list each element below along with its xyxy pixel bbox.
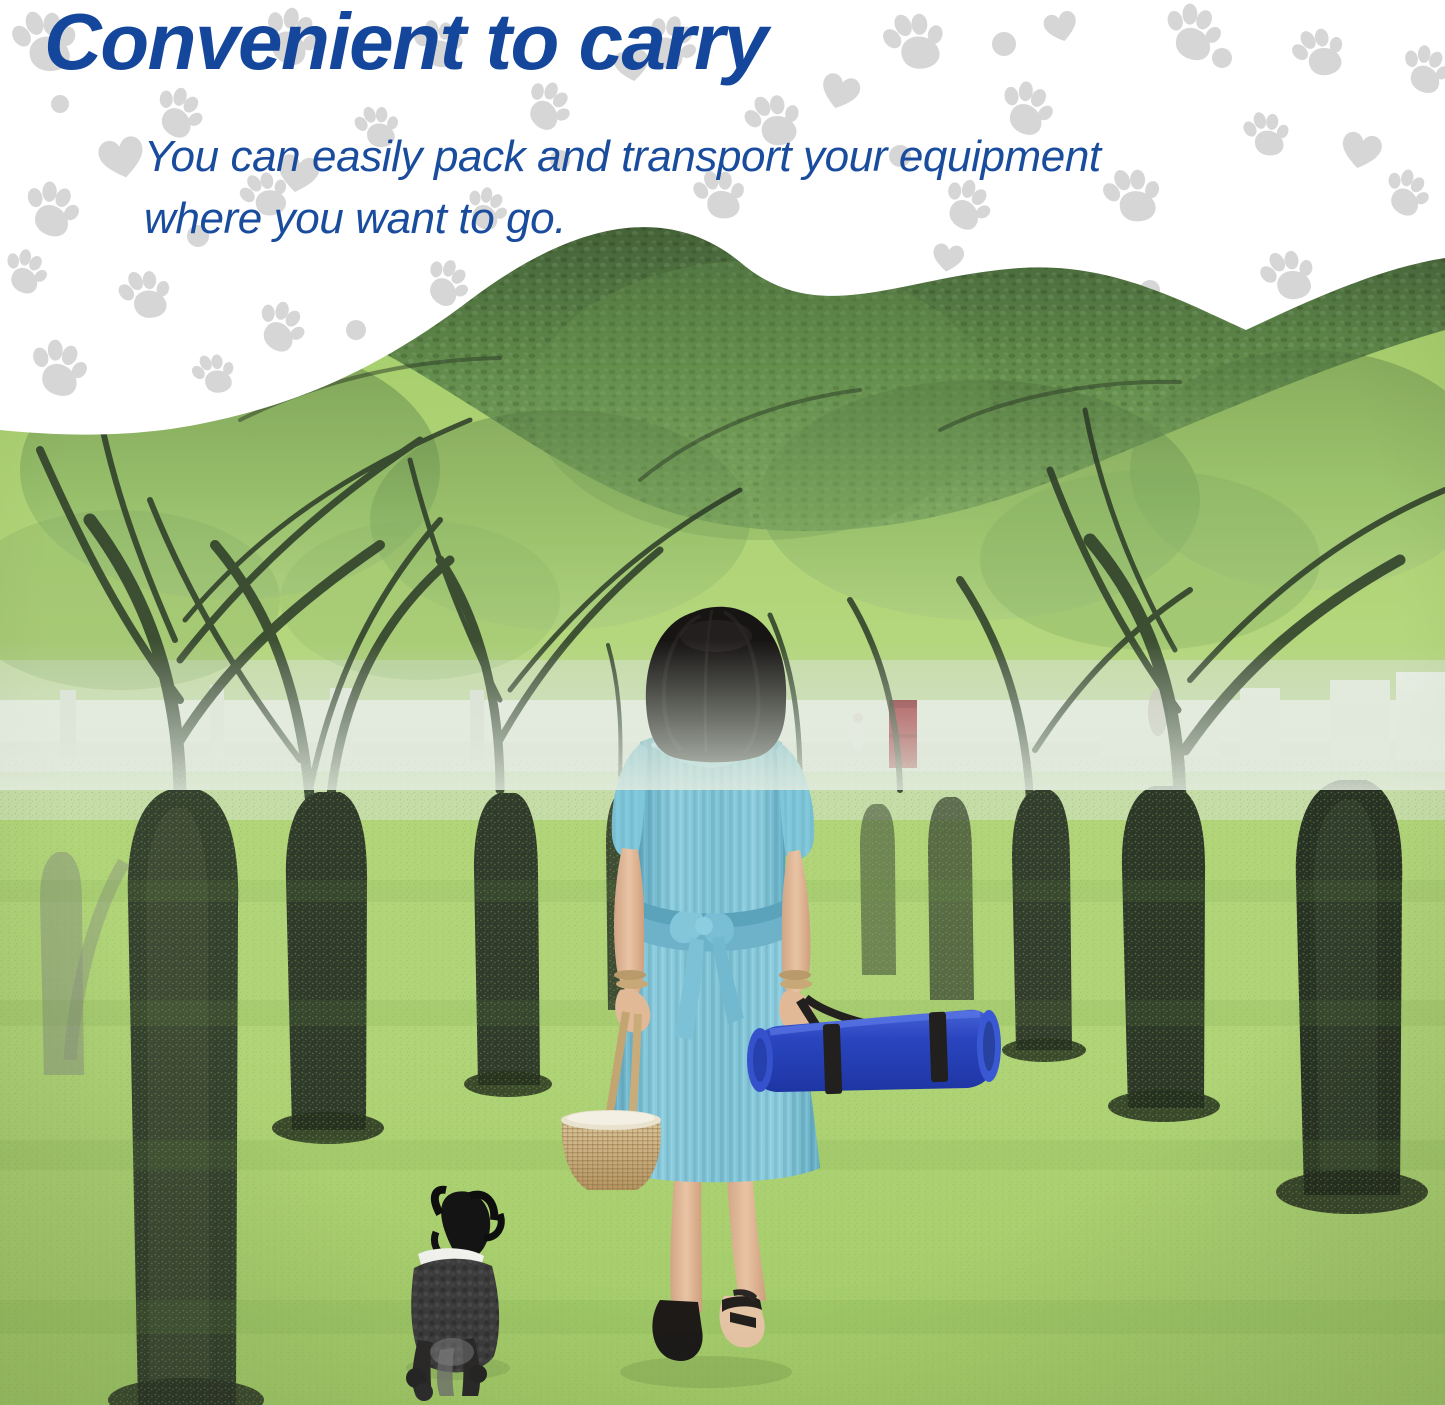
banner-text-block: Convenient to carry You can easily pack … bbox=[0, 0, 1445, 280]
atmospheric-haze bbox=[0, 640, 1445, 790]
page-title: Convenient to carry bbox=[44, 2, 767, 82]
banner-subtext-line-2: where you want to go. bbox=[144, 188, 1354, 250]
banner-subtext-line-1: You can easily pack and transport your e… bbox=[144, 126, 1354, 188]
banner-subtext: You can easily pack and transport your e… bbox=[144, 126, 1354, 251]
marketing-banner-image: Convenient to carry You can easily pack … bbox=[0, 0, 1445, 1405]
